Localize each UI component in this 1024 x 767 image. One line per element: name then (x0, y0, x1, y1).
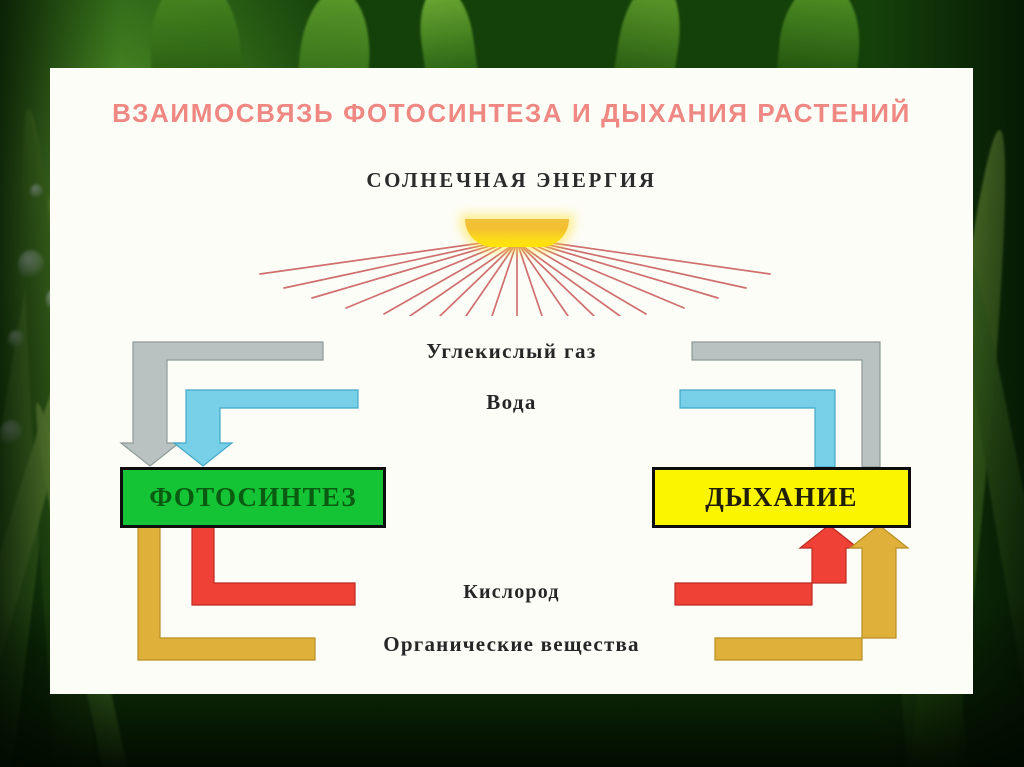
photosynthesis-box: ФОТОСИНТЕЗ (120, 467, 386, 528)
water-label: Вода (50, 390, 973, 415)
organic-substances-label: Органические вещества (50, 632, 973, 657)
respiration-box-label: ДЫХАНИЕ (705, 482, 858, 513)
oxygen-label: Кислород (50, 581, 973, 604)
respiration-box: ДЫХАНИЕ (652, 467, 911, 528)
diagram-card: ВЗАИМОСВЯЗЬ ФОТОСИНТЕЗА И ДЫХАНИЯ РАСТЕН… (50, 68, 973, 694)
sun-graphic (250, 216, 780, 316)
carbon-dioxide-label: Углекислый газ (50, 339, 973, 364)
photosynthesis-box-label: ФОТОСИНТЕЗ (149, 482, 357, 513)
half-sun-icon (465, 219, 569, 247)
